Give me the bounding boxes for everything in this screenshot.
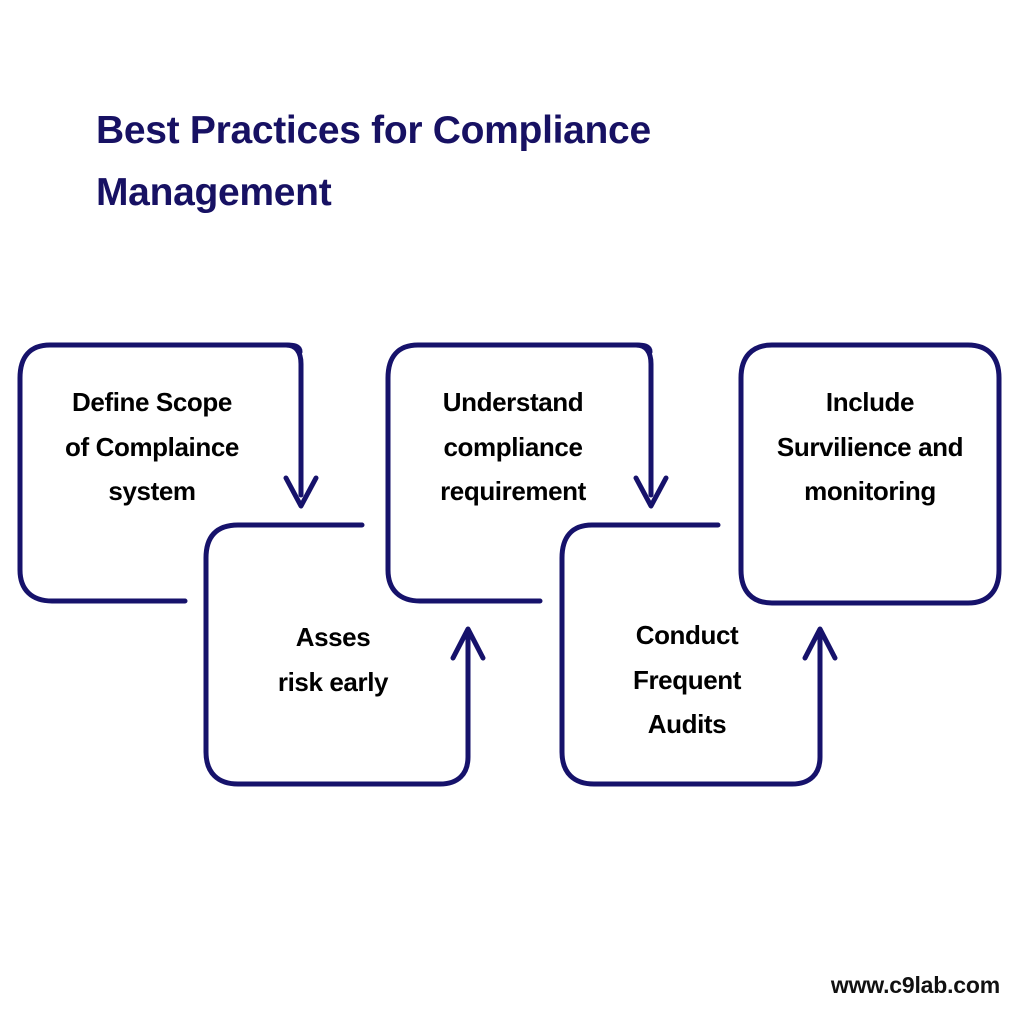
step-3-arrow-shaft <box>636 345 651 495</box>
step-1-box-outline <box>20 345 300 601</box>
step-2-box-outline <box>206 525 468 784</box>
step-3-box-outline <box>388 345 650 601</box>
step-3-shape[interactable] <box>388 345 666 601</box>
step-5-box-outline <box>741 345 999 603</box>
flow-diagram-svg <box>0 0 1024 1024</box>
step-1-arrow-shaft <box>286 345 301 495</box>
footer-website-url[interactable]: www.c9lab.com <box>831 972 1000 999</box>
step-5-shape[interactable] <box>741 345 999 603</box>
diagram-canvas: Best Practices for Compliance Management <box>0 0 1024 1024</box>
step-1-shape[interactable] <box>20 345 316 601</box>
step-2-shape[interactable] <box>206 525 483 784</box>
step-4-box-outline <box>562 525 820 784</box>
step-4-shape[interactable] <box>562 525 835 784</box>
